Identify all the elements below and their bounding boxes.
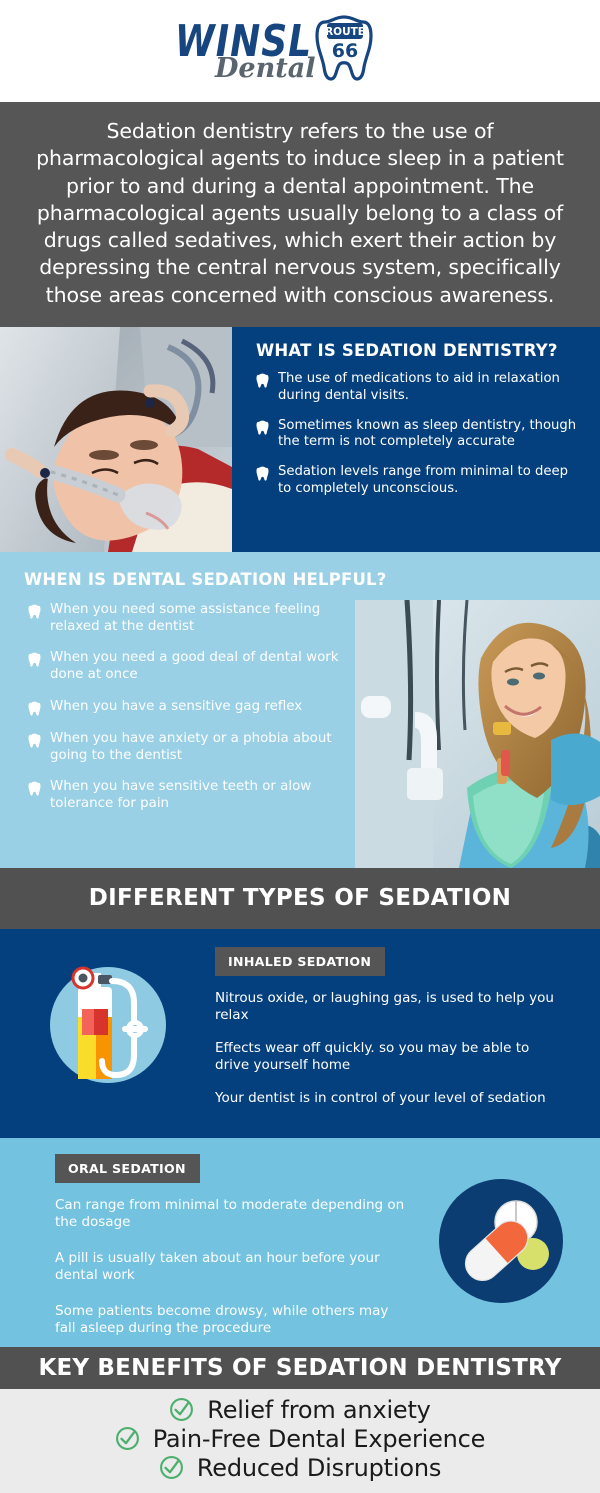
list-item: Relief from anxiety: [0, 1396, 600, 1424]
brand-header: WINSL W Dental ROUTE 66: [0, 0, 600, 102]
when-helpful-title: WHEN IS DENTAL SEDATION HELPFUL?: [24, 570, 387, 589]
tooth-bullet-icon: [256, 371, 269, 405]
logo[interactable]: WINSL W Dental ROUTE 66: [175, 15, 425, 87]
tooth-bullet-icon: [256, 464, 269, 498]
inhaled-point: Effects wear off quickly. so you may be …: [215, 1040, 566, 1075]
nitrous-patient-photo: [0, 327, 232, 552]
check-circle-icon: [115, 1426, 140, 1451]
nitrous-gas-cylinder-icon: [36, 951, 180, 1095]
types-of-sedation-banner: DIFFERENT TYPES OF SEDATION: [0, 868, 600, 929]
list-item: Sometimes known as sleep dentistry, thou…: [256, 418, 582, 452]
benefits-list: Relief from anxiety Pain-Free Dental Exp…: [0, 1389, 600, 1493]
oral-point: Can range from minimal to moderate depen…: [55, 1197, 405, 1232]
list-item-text: Sedation levels range from minimal to de…: [278, 464, 582, 498]
list-item: When you have sensitive teeth or alow to…: [28, 779, 348, 813]
list-item: Reduced Disruptions: [0, 1454, 600, 1482]
tooth-bullet-icon: [28, 779, 41, 813]
tooth-bullet-icon: [28, 650, 41, 684]
oral-point: Some patients become drowsy, while other…: [55, 1303, 405, 1338]
benefit-text: Relief from anxiety: [207, 1396, 430, 1424]
list-item: Sedation levels range from minimal to de…: [256, 464, 582, 498]
list-item-text: When you need some assistance feeling re…: [50, 602, 348, 636]
inhaled-point: Your dentist is in control of your level…: [215, 1090, 566, 1108]
tooth-route66-icon: ROUTE 66: [315, 15, 373, 81]
list-item-text: When you have sensitive teeth or alow to…: [50, 779, 348, 813]
when-helpful-bullet-list: When you need some assistance feeling re…: [28, 602, 348, 828]
tooth-bullet-icon: [28, 699, 41, 716]
svg-text:ROUTE: ROUTE: [325, 26, 365, 38]
list-item: When you have a sensitive gag reflex: [28, 699, 348, 716]
tooth-bullet-icon: [28, 602, 41, 636]
intro-paragraph: Sedation dentistry refers to the use of …: [22, 118, 578, 309]
oral-sedation-chip: ORAL SEDATION: [55, 1154, 200, 1183]
list-item: When you need a good deal of dental work…: [28, 650, 348, 684]
tooth-bullet-icon: [256, 418, 269, 452]
svg-text:66: 66: [332, 40, 358, 62]
when-helpful-section: WHEN IS DENTAL SEDATION HELPFUL? When yo…: [0, 552, 600, 868]
inhaled-sedation-section: INHALED SEDATION Nitrous oxide, or laugh…: [0, 929, 600, 1138]
benefit-text: Pain-Free Dental Experience: [153, 1425, 486, 1453]
smiling-patient-photo: [355, 600, 600, 868]
logo-script-dental: Dental: [215, 53, 315, 84]
what-is-bullet-list: The use of medications to aid in relaxat…: [256, 371, 582, 498]
types-banner-label: DIFFERENT TYPES OF SEDATION: [89, 885, 511, 911]
pills-capsule-icon: [438, 1178, 564, 1304]
what-is-title: WHAT IS SEDATION DENTISTRY?: [256, 341, 582, 360]
check-circle-icon: [159, 1455, 184, 1480]
benefit-text: Reduced Disruptions: [197, 1454, 441, 1482]
inhaled-sedation-chip: INHALED SEDATION: [215, 947, 385, 976]
what-is-sedation-section: WHAT IS SEDATION DENTISTRY? The use of m…: [0, 327, 600, 552]
oral-point: A pill is usually taken about an hour be…: [55, 1250, 405, 1285]
intro-section: Sedation dentistry refers to the use of …: [0, 102, 600, 327]
oral-sedation-section: ORAL SEDATION Can range from minimal to …: [0, 1138, 600, 1347]
tooth-bullet-icon: [28, 731, 41, 765]
list-item-text: When you have anxiety or a phobia about …: [50, 731, 348, 765]
list-item: Pain-Free Dental Experience: [0, 1425, 600, 1453]
list-item-text: When you need a good deal of dental work…: [50, 650, 348, 684]
list-item-text: The use of medications to aid in relaxat…: [278, 371, 582, 405]
list-item: When you need some assistance feeling re…: [28, 602, 348, 636]
list-item: When you have anxiety or a phobia about …: [28, 731, 348, 765]
key-benefits-label: KEY BENEFITS OF SEDATION DENTISTRY: [38, 1355, 561, 1381]
check-circle-icon: [169, 1397, 194, 1422]
list-item-text: Sometimes known as sleep dentistry, thou…: [278, 418, 582, 452]
key-benefits-banner: KEY BENEFITS OF SEDATION DENTISTRY: [0, 1347, 600, 1389]
inhaled-point: Nitrous oxide, or laughing gas, is used …: [215, 990, 566, 1025]
list-item-text: When you have a sensitive gag reflex: [50, 699, 302, 716]
list-item: The use of medications to aid in relaxat…: [256, 371, 582, 405]
